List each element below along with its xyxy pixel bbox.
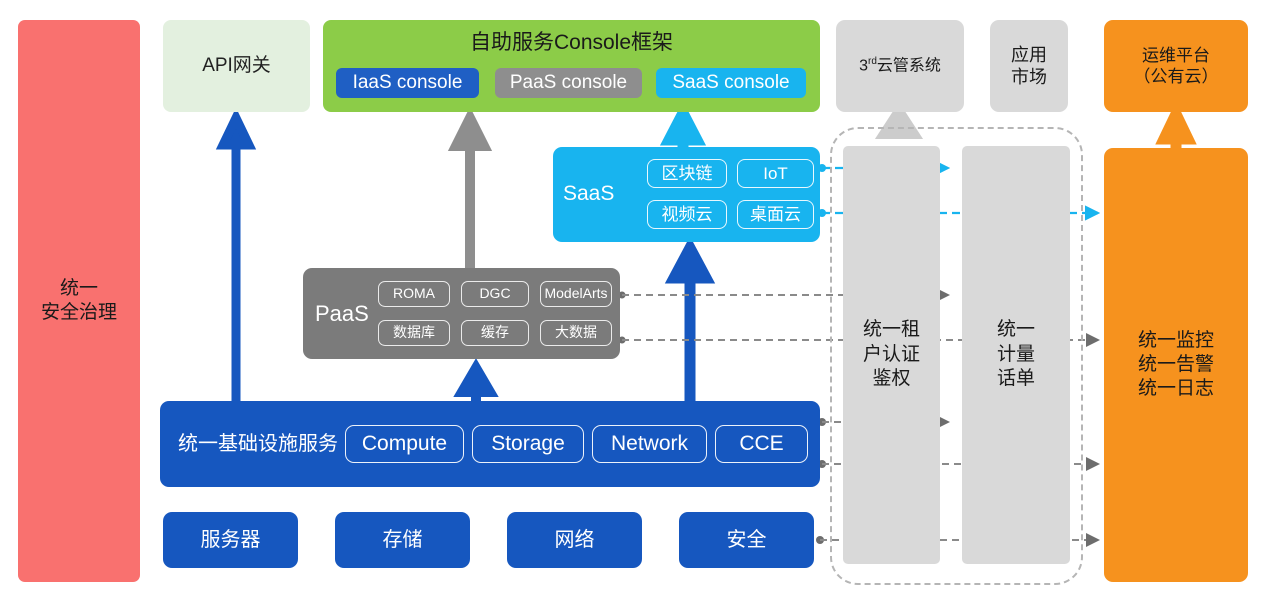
saas-layer-label: SaaS [563, 147, 614, 242]
saas-chip-video-cloud[interactable]: 视频云 [647, 200, 727, 229]
paas-chip-modelarts-label: ModelArts [544, 285, 607, 303]
infra-chip-compute[interactable]: Compute [345, 425, 464, 463]
saas-chip-blockchain-label: 区块链 [662, 163, 713, 184]
unified-security-governance[interactable]: 统一 安全治理 [18, 20, 140, 582]
arrow-ops-main-to-ops-top [1164, 114, 1188, 148]
unified-monitoring-alarm-log[interactable]: 统一监控 统一告警 统一日志 [1104, 148, 1248, 582]
pillar-unified-tenant-auth[interactable]: 统一租 户认证 鉴权 [843, 146, 940, 564]
architecture-diagram: 统一租 户认证 鉴权 统一 计量 话单 统一 安全治理 API网关 自助服务Co… [0, 0, 1265, 605]
paas-chip-cache-label: 缓存 [481, 324, 509, 342]
arrow-infra-to-api-gateway [223, 118, 249, 401]
paas-chip-cache[interactable]: 缓存 [461, 320, 529, 346]
third-party-superscript: rd [868, 56, 877, 67]
paas-chip-database-label: 数据库 [393, 324, 435, 342]
infra-chip-compute-label: Compute [362, 431, 447, 457]
arrow-infra-to-paas [462, 368, 490, 401]
infra-chip-network-label: Network [611, 431, 688, 457]
unified-infrastructure-service[interactable]: 统一基础设施服务 Compute Storage Network CCE [160, 401, 820, 487]
paas-chip-roma[interactable]: ROMA [378, 281, 450, 307]
paas-console-pill[interactable]: PaaS console [495, 68, 642, 98]
api-gateway[interactable]: API网关 [163, 20, 310, 112]
infra-chip-storage-label: Storage [491, 431, 565, 457]
hardware-network[interactable]: 网络 [507, 512, 642, 568]
hardware-security-label: 安全 [727, 528, 767, 553]
paas-chip-roma-label: ROMA [393, 285, 435, 303]
hardware-network-label: 网络 [555, 528, 595, 553]
iaas-console-label: IaaS console [353, 71, 463, 95]
paas-chip-database[interactable]: 数据库 [378, 320, 450, 346]
app-market[interactable]: 应用 市场 [990, 20, 1068, 112]
paas-layer-label: PaaS [315, 268, 369, 359]
app-market-label: 应用 市场 [1011, 44, 1047, 89]
pillar-auth-label: 统一租 户认证 鉴权 [863, 318, 920, 392]
infra-chip-cce-label: CCE [739, 431, 783, 457]
paas-layer[interactable]: PaaS ROMA DGC ModelArts 数据库 缓存 大数据 [303, 268, 620, 359]
hardware-storage[interactable]: 存储 [335, 512, 470, 568]
saas-console-label: SaaS console [672, 71, 789, 95]
saas-chip-desktop-cloud[interactable]: 桌面云 [737, 200, 814, 229]
paas-console-label: PaaS console [510, 71, 627, 95]
hardware-server[interactable]: 服务器 [163, 512, 298, 568]
saas-chip-desktop-cloud-label: 桌面云 [750, 204, 801, 225]
arrow-infra-to-saas [674, 248, 706, 401]
saas-layer[interactable]: SaaS 区块链 IoT 视频云 桌面云 [553, 147, 820, 242]
paas-chip-dgc[interactable]: DGC [461, 281, 529, 307]
hardware-storage-label: 存储 [383, 528, 423, 553]
unified-security-governance-label: 统一 安全治理 [41, 277, 117, 325]
pillar-meter-label: 统一 计量 话单 [997, 318, 1035, 392]
paas-chip-modelarts[interactable]: ModelArts [540, 281, 612, 307]
hardware-security[interactable]: 安全 [679, 512, 814, 568]
unified-infrastructure-service-label: 统一基础设施服务 [178, 401, 338, 487]
self-service-console-framework[interactable]: 自助服务Console框架 IaaS console PaaS console … [323, 20, 820, 112]
paas-chip-bigdata-label: 大数据 [555, 324, 597, 342]
paas-chip-bigdata[interactable]: 大数据 [540, 320, 612, 346]
third-party-label: 3rd云管系统 [859, 56, 941, 76]
saas-console-pill[interactable]: SaaS console [656, 68, 806, 98]
arrow-paas-to-console [456, 118, 484, 268]
third-party-cloud-management-system[interactable]: 3rd云管系统 [836, 20, 964, 112]
arrow-saas-to-console [669, 113, 697, 147]
pillar-unified-metering[interactable]: 统一 计量 话单 [962, 146, 1070, 564]
paas-chip-dgc-label: DGC [479, 285, 510, 303]
ops-platform-public-cloud[interactable]: 运维平台 （公有云） [1104, 20, 1248, 112]
console-framework-title: 自助服务Console框架 [323, 30, 820, 56]
iaas-console-pill[interactable]: IaaS console [336, 68, 479, 98]
ops-platform-label: 运维平台 （公有云） [1134, 45, 1219, 88]
api-gateway-label: API网关 [202, 54, 271, 78]
saas-chip-video-cloud-label: 视频云 [662, 204, 713, 225]
hardware-server-label: 服务器 [201, 528, 261, 553]
saas-chip-iot-label: IoT [763, 163, 788, 184]
infra-chip-cce[interactable]: CCE [715, 425, 808, 463]
infra-chip-network[interactable]: Network [592, 425, 707, 463]
infra-chip-storage[interactable]: Storage [472, 425, 584, 463]
unified-monitoring-label: 统一监控 统一告警 统一日志 [1138, 329, 1214, 400]
saas-chip-iot[interactable]: IoT [737, 159, 814, 188]
saas-chip-blockchain[interactable]: 区块链 [647, 159, 727, 188]
